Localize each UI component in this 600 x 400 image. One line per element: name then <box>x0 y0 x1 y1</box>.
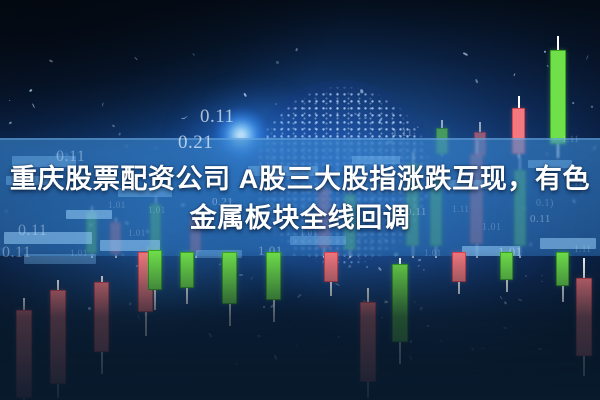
headline-line-2: 金属板块全线回调 <box>0 199 600 238</box>
background-bottom-shade <box>0 250 600 400</box>
candlestick-body <box>550 50 566 144</box>
band-top-edge <box>0 138 600 140</box>
overlay-number: 0.21 <box>178 132 213 154</box>
news-banner-image: 0.110.211.110.111.011.010.210.111.010.11… <box>0 0 600 400</box>
overlay-number: 1.11 <box>562 134 579 144</box>
overlay-number: 1.11 <box>392 127 413 139</box>
headline-block: 重庆股票配资公司 A股三大股指涨跌互现，有色 金属板块全线回调 <box>0 160 600 238</box>
headline-line-1: 重庆股票配资公司 A股三大股指涨跌互现，有色 <box>0 160 600 199</box>
overlay-number: 0.11 <box>200 106 235 128</box>
